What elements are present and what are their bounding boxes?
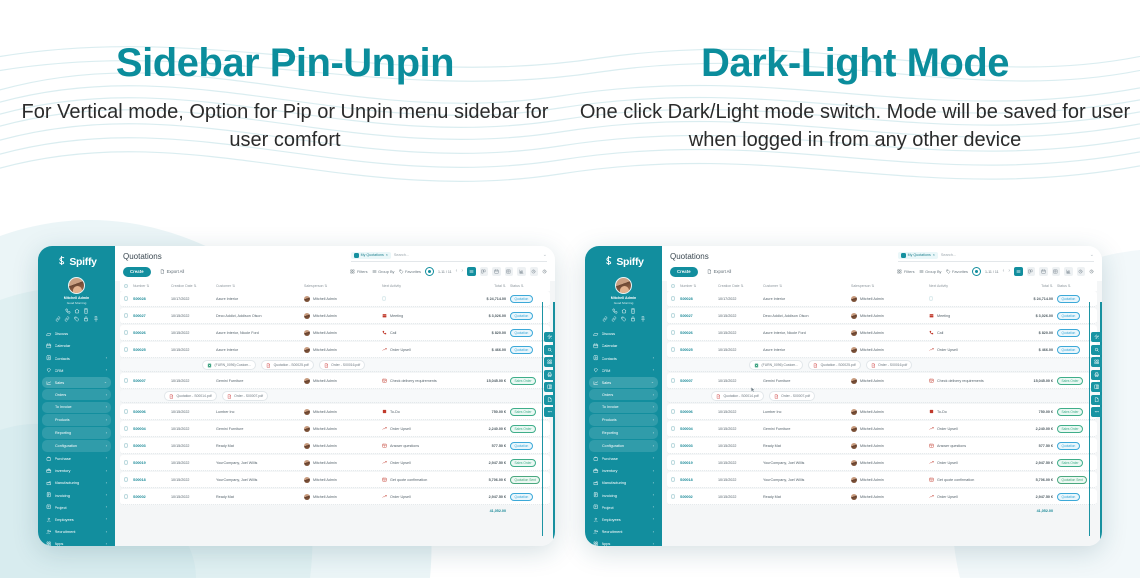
sidebar-item-calendar[interactable]: Calendar [42,340,111,352]
column-header-status[interactable]: Status ⇅ [506,284,546,288]
table-row[interactable]: S0000710/15/2022Gemini FurnitureMitchell… [120,373,550,389]
row-checkbox[interactable] [124,443,133,447]
cell-number[interactable]: S00028 [680,297,718,301]
row-checkbox[interactable] [124,313,133,317]
cell-next-activity[interactable]: Order Upsell [929,460,1007,465]
filters-button[interactable]: Filters [897,269,914,274]
row-checkbox[interactable] [671,494,680,498]
sidebar-item-configuration[interactable]: Configuration› [589,440,658,452]
page-subtitle-left: For Vertical mode, Option for Pip or Unp… [0,98,570,155]
row-checkbox[interactable] [124,426,133,430]
view-button-activity-view[interactable] [530,267,539,276]
page-subtitle-right: One click Dark/Light mode switch. Mode w… [570,98,1140,155]
view-button-graph-view[interactable] [517,267,526,276]
chevron-right-icon: › [106,393,107,397]
row-checkbox[interactable] [124,296,133,300]
column-header-next-activity[interactable]: Next Activity [382,284,460,288]
row-checkbox[interactable] [671,477,680,481]
view-button-kanban-view[interactable] [1027,267,1036,276]
cell-total: 577.50 € [460,444,506,448]
row-checkbox[interactable] [671,426,680,430]
export-all-button[interactable]: Export All [701,267,738,277]
row-checkbox[interactable] [671,296,680,300]
group-by-button[interactable]: Group By [919,269,942,274]
cell-next-activity[interactable] [382,296,460,300]
page-heading: Quotations [670,252,709,261]
row-checkbox[interactable] [671,443,680,447]
avatar [851,477,857,483]
quotations-table[interactable]: Number ⇅Creation Date ⇅Customer ⇅Salespe… [115,281,555,516]
cell-next-activity[interactable]: To-Do [382,409,460,414]
column-header-number[interactable]: Number ⇅ [680,284,718,288]
rail-button-print[interactable] [1091,370,1102,380]
column-header-creation-date[interactable]: Creation Date ⇅ [171,284,216,288]
sidebar-item-purchase[interactable]: Purchase› [42,453,111,465]
cell-number[interactable]: S00004 [133,427,171,431]
sidebar-item-recruitment[interactable]: Recruitment› [589,526,658,538]
row-checkbox[interactable] [124,330,133,334]
row-checkbox[interactable] [671,409,680,413]
activity-label: Answer questions [937,444,966,448]
row-checkbox[interactable] [124,378,133,382]
chevron-right-icon: › [653,444,654,448]
attachment-chip[interactable]: (FURN_0096) Custom... [202,360,256,370]
quotations-table[interactable]: Number ⇅Creation Date ⇅Customer ⇅Salespe… [662,281,1102,516]
table-row[interactable]: S0002610/15/2022Azure Interior, Nicole F… [120,325,550,341]
sidebar[interactable]: SpiffyMitchell AdminGood MorningDiscussC… [585,246,662,546]
rail-button-more[interactable] [544,407,555,417]
cell-number[interactable]: S00003 [133,444,171,448]
sidebar-item-configuration[interactable]: Configuration› [42,440,111,452]
view-button-list-view[interactable] [467,267,476,276]
row-checkbox[interactable] [124,409,133,413]
column-header-creation-date[interactable]: Creation Date ⇅ [718,284,763,288]
sidebar-item-label: Discuss [602,331,655,336]
sidebar-item-label: Discuss [55,331,108,336]
cell-next-activity[interactable]: Get quote confirmation [929,477,1007,482]
table-row[interactable]: S0001910/15/2022YourCompany, Joel Willis… [120,455,550,471]
view-button-pivot-view[interactable] [505,267,514,276]
quote-confirm-icon [382,477,387,482]
sidebar-item-products[interactable]: Products› [42,414,111,426]
footer-total: 41,052.00 [460,509,506,513]
view-button-calendar-view[interactable] [492,267,501,276]
cell-creation-date: 10/15/2022 [718,314,763,318]
rail-button-grid[interactable] [1091,357,1102,367]
search-input[interactable]: Search... [941,253,956,257]
sidebar-item-label: Purchase [602,456,650,461]
view-button-calendar-view[interactable] [1039,267,1048,276]
select-all-checkbox[interactable] [671,284,680,288]
cell-customer: Deco Addict, Addison Olson [763,314,851,318]
sidebar-item-products[interactable]: Products› [589,414,658,426]
list-view-icon [919,269,924,274]
app-mockup-light-right[interactable]: SpiffyMitchell AdminGood MorningDiscussC… [585,246,1102,546]
table-row[interactable]: S0002810/17/2022Azure InteriorMitchell A… [120,291,550,307]
sidebar-item-reporting[interactable]: Reporting› [42,427,111,439]
quick-icons-row-1[interactable] [589,308,658,314]
scrollbar[interactable] [542,302,543,536]
sidebar-item-project[interactable]: Project› [589,501,658,513]
cell-next-activity[interactable] [929,296,1007,300]
row-checkbox[interactable] [124,347,133,351]
side-action-rail[interactable] [1091,332,1102,417]
sidebar-item-purchase[interactable]: Purchase› [589,453,658,465]
row-checkbox[interactable] [124,477,133,481]
sidebar-item-crm[interactable]: CRM› [589,364,658,376]
search-bar[interactable]: My Quotations×Search...⌄ [898,252,1094,262]
create-button[interactable]: Create [123,267,151,277]
sidebar-item-orders[interactable]: Orders› [589,389,658,401]
activity-label: Get quote confirmation [390,478,427,482]
main-content[interactable]: QuotationsMy Quotations×Search...⌄Create… [115,246,555,546]
attachment-chip[interactable]: Quotation - S00014.pdf [164,391,217,401]
inventory-icon [46,468,52,474]
attachment-chip[interactable]: Order - S00007.pdf [222,391,269,401]
sidebar-item-invoicing[interactable]: Invoicing› [42,489,111,501]
table-row[interactable]: S0001810/15/2022YourCompany, Joel Willis… [667,472,1097,488]
table-row[interactable]: S0001910/15/2022YourCompany, Joel Willis… [667,455,1097,471]
row-checkbox[interactable] [671,460,680,464]
avatar [851,296,857,302]
sidebar-item-inventory[interactable]: Inventory› [42,465,111,477]
sidebar-item-to-invoice[interactable]: To Invoice› [42,402,111,414]
table-row[interactable]: S0001810/15/2022YourCompany, Joel Willis… [120,472,550,488]
rail-button-search[interactable] [1091,345,1102,355]
sidebar-item-orders[interactable]: Orders› [42,389,111,401]
app-logo[interactable]: Spiffy [589,253,658,271]
sidebar-item-crm[interactable]: CRM› [42,364,111,376]
mouse-cursor [750,380,756,388]
sidebar-item-inventory[interactable]: Inventory› [589,465,658,477]
pager-count: 1-11 / 11 [438,270,452,274]
spiffy-logo-icon [56,253,67,271]
sidebar[interactable]: SpiffyMitchell AdminGood MorningDiscussC… [38,246,115,546]
sidebar-item-discuss[interactable]: Discuss [589,328,658,340]
cell-next-activity[interactable]: Meeting [382,313,460,318]
rail-button-columns[interactable] [1091,382,1102,392]
cell-number[interactable]: S00006 [680,410,718,414]
cell-next-activity[interactable]: Answer questions [929,443,1007,448]
rail-button-doc[interactable] [544,395,555,405]
todo-icon [929,409,934,414]
search-bar[interactable]: My Quotations×Search...⌄ [351,252,547,262]
cell-next-activity[interactable]: Answer questions [382,443,460,448]
cell-next-activity[interactable]: Call [929,330,1007,335]
row-checkbox[interactable] [671,313,680,317]
chevron-right-icon: › [106,542,107,546]
attachment-label: Order - S00007.pdf [781,394,810,398]
pdf-icon [774,394,779,399]
contacts-icon [46,355,52,361]
view-button-list-view[interactable] [1014,267,1023,276]
sidebar-item-manufacturing[interactable]: Manufacturing› [589,477,658,489]
cell-number[interactable]: S00007 [133,379,171,383]
avatar [851,426,857,432]
main-content[interactable]: QuotationsMy Quotations×Search...⌄Create… [662,246,1102,546]
attachment-chip[interactable]: Order - S00016.pdf [866,360,913,370]
sidebar-item-label: Reporting [55,431,103,435]
attachment-chip[interactable]: Order - S00016.pdf [319,360,366,370]
rail-button-search[interactable] [544,345,555,355]
cell-number[interactable]: S00027 [133,314,171,318]
sidebar-item-recruitment[interactable]: Recruitment› [42,526,111,538]
row-checkbox[interactable] [124,494,133,498]
column-header-total[interactable]: Total ⇅ [460,284,506,288]
table-row[interactable]: S0002710/15/2022Deco Addict, Addison Ols… [120,308,550,324]
cell-number[interactable]: S00018 [133,478,171,482]
chevron-right-icon: › [653,431,654,435]
cell-number[interactable]: S00019 [133,461,171,465]
sidebar-item-contacts[interactable]: Contacts› [42,352,111,364]
table-row[interactable]: S0002710/15/2022Deco Addict, Addison Ols… [667,308,1097,324]
pager-next-icon[interactable]: › [461,269,463,274]
export-all-label: Export All [167,269,185,274]
cell-customer: Azure Interior [216,297,304,301]
table-row[interactable]: S0000610/15/2022Lumber IncMitchell Admin… [667,404,1097,420]
attachment-chip[interactable]: (FURN_0096) Custom... [749,360,803,370]
invoicing-icon [46,492,52,498]
cell-number[interactable]: S00026 [133,331,171,335]
headline-band: Sidebar Pin-Unpin For Vertical mode, Opt… [0,0,1140,230]
cell-next-activity[interactable]: Check delivery requirements [929,378,1007,383]
rail-button-grid[interactable] [544,357,555,367]
activity-label: Order Upsell [937,495,958,499]
cell-next-activity[interactable]: Order Upsell [929,426,1007,431]
group-by-label: Group By [925,269,941,274]
sidebar-item-employees[interactable]: Employees› [42,514,111,526]
sidebar-item-discuss[interactable]: Discuss [42,328,111,340]
pager-prev-icon[interactable]: ‹ [1003,269,1005,274]
sidebar-item-label: Sales [55,380,101,385]
cell-next-activity[interactable]: Order Upsell [382,347,460,352]
sidebar-item-apps[interactable]: Apps› [42,538,111,546]
table-row[interactable]: S0002810/17/2022Azure InteriorMitchell A… [667,291,1097,307]
attachment-row[interactable]: Quotation - S00014.pdfOrder - S00007.pdf [120,390,550,403]
check-delivery-icon [382,378,387,383]
cell-number[interactable]: S00019 [680,461,718,465]
topbar[interactable]: QuotationsMy Quotations×Search...⌄Create… [662,246,1102,281]
cell-salesperson: Mitchell Admin [851,494,929,500]
doc-icon [160,269,165,274]
app-mockup-light-left[interactable]: SpiffyMitchell AdminGood MorningDiscussC… [38,246,555,546]
page-title-right: Dark-Light Mode [570,42,1140,84]
cell-next-activity[interactable]: Order Upsell [382,426,460,431]
rail-button-print[interactable] [544,370,555,380]
sidebar-item-project[interactable]: Project› [42,501,111,513]
cell-creation-date: 10/15/2022 [718,331,763,335]
column-header-salesperson[interactable]: Salesperson ⇅ [304,284,382,288]
chevron-right-icon: › [653,405,654,409]
row-checkbox[interactable] [124,460,133,464]
invoicing-icon [593,492,599,498]
chevron-right-icon: › [106,444,107,448]
filters-button[interactable]: Filters [350,269,367,274]
sidebar-item-employees[interactable]: Employees› [589,514,658,526]
favorites-button[interactable]: Favorites [399,269,422,274]
cell-creation-date: 10/17/2022 [718,297,763,301]
sidebar-item-contacts[interactable]: Contacts› [589,352,658,364]
search-input[interactable]: Search... [394,253,409,257]
cell-number[interactable]: S00025 [680,348,718,352]
cell-next-activity[interactable]: Meeting [929,313,1007,318]
close-icon[interactable]: × [386,253,388,257]
sidebar-item-to-invoice[interactable]: To Invoice› [589,402,658,414]
cell-number[interactable]: S00004 [680,427,718,431]
export-all-button[interactable]: Export All [154,267,191,277]
sidebar-item-apps[interactable]: Apps› [589,538,658,546]
sidebar-item-invoicing[interactable]: Invoicing› [589,489,658,501]
column-header-customer[interactable]: Customer ⇅ [216,284,304,288]
cell-number[interactable]: S00003 [680,444,718,448]
table-row[interactable]: S0002510/15/2022Azure InteriorMitchell A… [667,342,1097,358]
table-row[interactable]: S0000710/15/2022Gemini FurnitureMitchell… [667,373,1097,389]
sidebar-menu[interactable]: DiscussCalendarContacts›CRM›Sales⌄Orders… [42,328,111,546]
quick-icons-row-2[interactable] [589,316,658,322]
cell-number[interactable]: S00027 [680,314,718,318]
table-row[interactable]: S0000210/15/2022Ready MatMitchell AdminO… [120,489,550,505]
favorites-button[interactable]: Favorites [946,269,969,274]
cell-salesperson: Mitchell Admin [851,409,929,415]
manufacturing-icon [46,480,52,486]
chevron-down-icon[interactable]: ⌄ [1090,252,1094,258]
cell-number[interactable]: S00018 [680,478,718,482]
chevron-down-icon[interactable]: ⌄ [543,252,547,258]
column-header-salesperson[interactable]: Salesperson ⇅ [851,284,929,288]
refresh-icon[interactable] [542,269,547,274]
select-all-checkbox[interactable] [124,284,133,288]
cell-number[interactable]: S00025 [133,348,171,352]
group-by-button[interactable]: Group By [372,269,395,274]
view-button-kanban-view[interactable] [480,267,489,276]
quick-icons-row-1[interactable] [42,308,111,314]
attachment-row[interactable]: (FURN_0096) Custom...Quotation - S00025.… [667,359,1097,372]
cell-salesperson: Mitchell Admin [851,378,929,384]
view-button-activity-view[interactable] [1077,267,1086,276]
rail-button-doc[interactable] [1091,395,1102,405]
attachment-row[interactable]: Quotation - S00014.pdfOrder - S00007.pdf [667,390,1097,403]
table-row[interactable]: S0000310/15/2022Ready MatMitchell AdminA… [120,438,550,454]
cell-customer: YourCompany, Joel Willis [763,461,851,465]
sidebar-item-calendar[interactable]: Calendar [589,340,658,352]
cell-number[interactable]: S00002 [133,495,171,499]
row-checkbox[interactable] [671,330,680,334]
avatar[interactable] [68,277,85,294]
sidebar-item-label: Apps [602,541,650,546]
rail-button-more[interactable] [1091,407,1102,417]
column-header-next-activity[interactable]: Next Activity [929,284,1007,288]
topbar[interactable]: QuotationsMy Quotations×Search...⌄Create… [115,246,555,281]
grid-icon [897,269,902,274]
cell-next-activity[interactable]: Order Upsell [382,494,460,499]
sidebar-item-reporting[interactable]: Reporting› [589,427,658,439]
avatar [304,378,310,384]
avatar[interactable] [615,277,632,294]
table-row[interactable]: S0000610/15/2022Lumber IncMitchell Admin… [120,404,550,420]
search-facet-my-quotations[interactable]: My Quotations× [898,252,938,259]
pager-next-icon[interactable]: › [1008,269,1010,274]
user-greeting: Good Morning [42,301,111,305]
cell-number[interactable]: S00028 [133,297,171,301]
column-header-number[interactable]: Number ⇅ [133,284,171,288]
refresh-icon[interactable] [1089,269,1094,274]
row-checkbox[interactable] [671,347,680,351]
cell-customer: Gemini Furniture [763,379,851,383]
cell-next-activity[interactable]: Get quote confirmation [382,477,460,482]
table-row[interactable]: S0000410/15/2022Gemini FurnitureMitchell… [120,421,550,437]
cell-salesperson: Mitchell Admin [851,330,929,336]
close-icon[interactable]: × [933,253,935,257]
attachment-chip[interactable]: Order - S00007.pdf [769,391,816,401]
cell-next-activity[interactable]: Order Upsell [929,347,1007,352]
sidebar-menu[interactable]: DiscussCalendarContacts›CRM›Sales⌄Orders… [589,328,658,546]
row-checkbox[interactable] [671,378,680,382]
headline-column-left: Sidebar Pin-Unpin For Vertical mode, Opt… [0,0,570,230]
cell-next-activity[interactable]: Check delivery requirements [382,378,460,383]
table-row[interactable]: S0000410/15/2022Gemini FurnitureMitchell… [667,421,1097,437]
pdf-icon [871,363,876,368]
table-row[interactable]: S0000210/15/2022Ready MatMitchell AdminO… [667,489,1097,505]
page-title-left: Sidebar Pin-Unpin [0,42,570,84]
sidebar-item-sales[interactable]: Sales⌄ [589,377,658,389]
chevron-right-icon: › [106,505,107,509]
status-badge: Sales Order [506,408,546,416]
cell-next-activity[interactable]: To-Do [929,409,1007,414]
attachment-chip[interactable]: Quotation - S00025.pdf [808,360,861,370]
cell-number[interactable]: S00026 [680,331,718,335]
avatar [304,426,310,432]
cell-number[interactable]: S00006 [133,410,171,414]
cell-number[interactable]: S00002 [680,495,718,499]
crm-icon [46,367,52,373]
sidebar-item-sales[interactable]: Sales⌄ [42,377,111,389]
cell-next-activity[interactable]: Order Upsell [929,494,1007,499]
view-button-pivot-view[interactable] [1052,267,1061,276]
cell-total: $ 24,714.00 [460,297,506,301]
pager-prev-icon[interactable]: ‹ [456,269,458,274]
create-button[interactable]: Create [670,267,698,277]
search-facet-my-quotations[interactable]: My Quotations× [351,252,391,259]
status-badge: Quotation [506,329,546,337]
attachment-chip[interactable]: Quotation - S00025.pdf [261,360,314,370]
app-logo[interactable]: Spiffy [42,253,111,271]
filters-label: Filters [357,269,368,274]
cell-total: 15,045.00 € [1007,379,1053,383]
chevron-right-icon: › [653,469,654,473]
scrollbar[interactable] [1089,302,1090,536]
side-action-rail[interactable] [544,332,555,417]
cell-number[interactable]: S00007 [680,379,718,383]
rail-button-gear[interactable] [544,332,555,342]
table-row[interactable]: S0002510/15/2022Azure InteriorMitchell A… [120,342,550,358]
view-button-graph-view[interactable] [1064,267,1073,276]
cell-next-activity[interactable]: Call [382,330,460,335]
column-header-total[interactable]: Total ⇅ [1007,284,1053,288]
rail-button-gear[interactable] [1091,332,1102,342]
status-badge: Sales Order [1053,425,1093,433]
rail-button-columns[interactable] [544,382,555,392]
column-header-customer[interactable]: Customer ⇅ [763,284,851,288]
column-header-status[interactable]: Status ⇅ [1053,284,1093,288]
cell-customer: Gemini Furniture [216,379,304,383]
chevron-right-icon: › [653,456,654,460]
table-row[interactable]: S0002610/15/2022Azure Interior, Nicole F… [667,325,1097,341]
sidebar-item-manufacturing[interactable]: Manufacturing› [42,477,111,489]
attachment-row[interactable]: (FURN_0096) Custom...Quotation - S00025.… [120,359,550,372]
quick-icons-row-2[interactable] [42,316,111,322]
table-row[interactable]: S0000310/15/2022Ready MatMitchell AdminA… [667,438,1097,454]
cell-next-activity[interactable]: Order Upsell [382,460,460,465]
